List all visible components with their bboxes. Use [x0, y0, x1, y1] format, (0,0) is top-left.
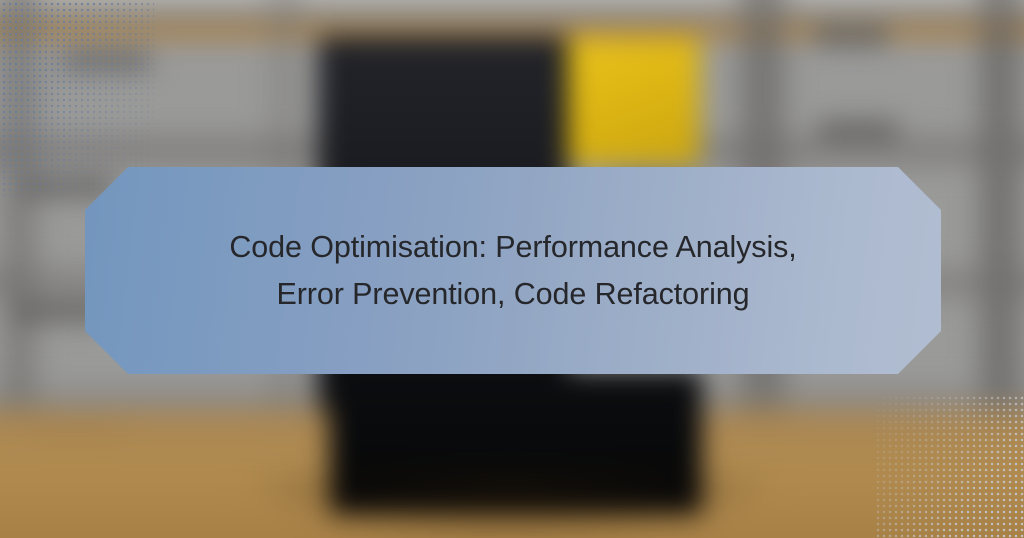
desk-shadow: [250, 470, 770, 538]
slide-canvas: Code Optimisation: Performance Analysis,…: [0, 0, 1024, 538]
yellow-block: [566, 38, 700, 166]
dot-grid-bottom-right: [874, 394, 1024, 538]
title-banner: Code Optimisation: Performance Analysis,…: [85, 167, 941, 374]
drawer-handle: [816, 120, 900, 140]
drawer-handle: [812, 26, 890, 46]
page-title: Code Optimisation: Performance Analysis,…: [173, 224, 852, 317]
dot-grid-top-left: [0, 0, 154, 196]
